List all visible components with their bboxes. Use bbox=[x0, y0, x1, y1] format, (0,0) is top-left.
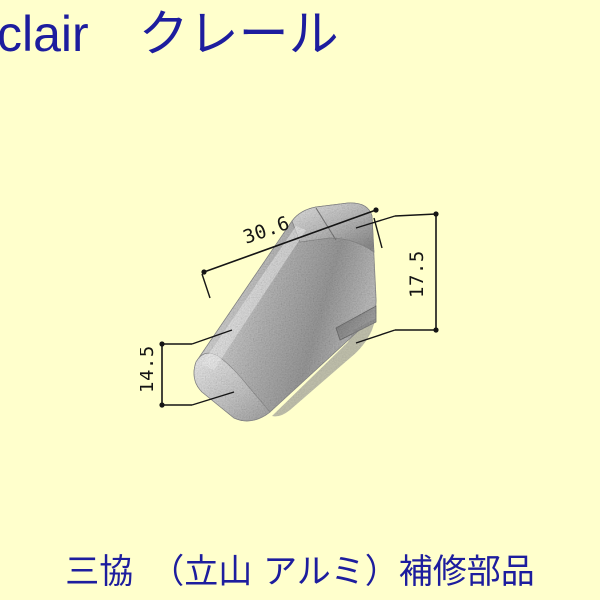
footer-caption: 三協 （立山 アルミ）補修部品 bbox=[0, 549, 600, 597]
page-title: clair クレール bbox=[0, 2, 577, 68]
part-body-group bbox=[194, 203, 376, 421]
dim-length-endpoint-right bbox=[373, 207, 378, 212]
dim-height-endpoint-top bbox=[433, 211, 438, 216]
dim-diameter-endpoint-bottom bbox=[159, 402, 164, 407]
dim-diameter-endpoint-top bbox=[159, 341, 164, 346]
dim-height-endpoint-bottom bbox=[433, 327, 438, 332]
part-drawing: 30.6 17.5 bbox=[140, 180, 470, 430]
catalog-page: clair クレール bbox=[0, 0, 600, 600]
dim-height-join-top bbox=[395, 214, 436, 216]
dim-length-endpoint-left bbox=[201, 269, 206, 274]
dim-length-ext-left bbox=[202, 274, 210, 298]
dim-diameter-label: 14.5 bbox=[140, 345, 158, 393]
dim-height-label: 17.5 bbox=[406, 250, 428, 298]
part-drawing-svg: 30.6 17.5 bbox=[140, 180, 470, 430]
